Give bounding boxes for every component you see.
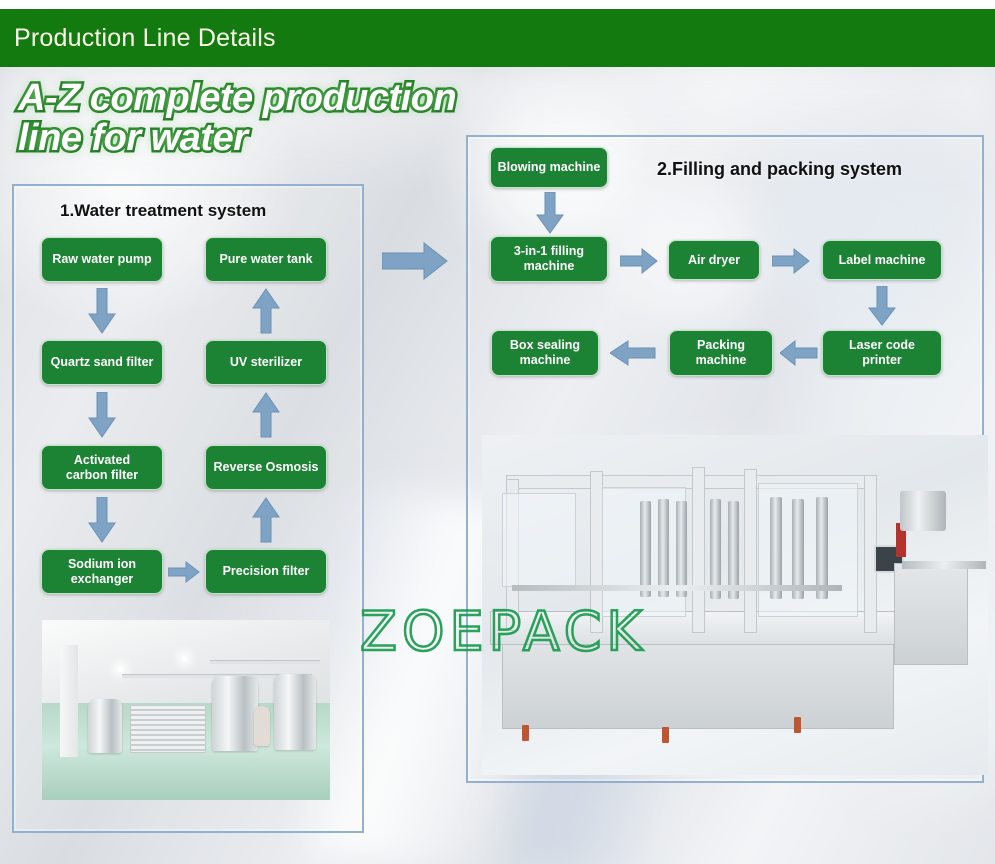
section-title-filling-packing: 2.Filling and packing system	[657, 159, 902, 180]
arrow-down-blowing-to-filling	[536, 192, 564, 234]
node-air-dryer[interactable]: Air dryer	[668, 240, 760, 280]
machine-frame-post-mid2	[692, 467, 705, 633]
arrow-up-uv-to-pure-tank	[252, 288, 280, 334]
node-blowing-machine[interactable]: Blowing machine	[490, 147, 608, 188]
arrow-up-ro-to-uv	[252, 392, 280, 438]
filling-nozzle-8	[816, 497, 828, 599]
arrow-down-raw-to-quartz	[88, 288, 116, 334]
photo-pipe-2	[210, 660, 320, 664]
node-three-in-one-filling-machine[interactable]: 3-in-1 filling machine	[490, 236, 608, 282]
node-uv-sterilizer[interactable]: UV sterilizer	[205, 340, 327, 385]
node-box-sealing-machine[interactable]: Box sealing machine	[491, 330, 599, 376]
machine-foot-2	[662, 727, 669, 743]
hero-line-1: A-Z complete production	[18, 78, 488, 118]
filling-nozzle-7	[792, 499, 804, 599]
arrow-up-precision-to-ro	[252, 497, 280, 543]
page-header: Production Line Details	[0, 9, 995, 67]
arrow-connector-system1-to-system2	[382, 241, 448, 281]
filling-nozzle-4	[710, 499, 721, 599]
photo-door	[254, 706, 270, 746]
photo-lamp-1	[118, 667, 123, 672]
machine-guard-panel-left	[502, 493, 576, 587]
photo-ro-membrane-rack	[130, 705, 206, 754]
node-precision-filter[interactable]: Precision filter	[205, 549, 327, 594]
arrow-left-packing-to-box-sealing	[610, 340, 656, 366]
filling-nozzle-3	[676, 501, 687, 597]
photo-tank-large-1	[212, 676, 258, 752]
node-sodium-ion-exchanger[interactable]: Sodium ion exchanger	[41, 549, 163, 594]
node-pure-water-tank[interactable]: Pure water tank	[205, 237, 327, 282]
production-line-details-page: Production Line Details A-Z complete pro…	[0, 0, 995, 864]
node-activated-carbon-filter[interactable]: Activated carbon filter	[41, 445, 163, 490]
page-title: Production Line Details	[0, 24, 276, 53]
photo-lamp-2	[182, 656, 187, 661]
photo-tank-large-2	[274, 674, 316, 750]
machine-outfeed-conveyor	[902, 561, 986, 569]
water-treatment-plant-photo	[42, 620, 330, 800]
machine-foot-1	[522, 725, 529, 741]
hero-line-2: line for water	[18, 118, 488, 158]
arrow-right-air-dryer-to-label	[772, 248, 810, 274]
arrow-down-quartz-to-carbon	[88, 392, 116, 438]
arrow-right-sodium-to-precision	[168, 561, 200, 583]
filling-nozzle-6	[770, 497, 782, 599]
arrow-left-laser-to-packing	[780, 340, 818, 366]
node-label-machine[interactable]: Label machine	[822, 240, 942, 280]
machine-base	[502, 631, 894, 729]
machine-guide-rail	[512, 585, 842, 591]
filling-nozzle-2	[658, 499, 669, 597]
machine-cap-hopper	[900, 491, 946, 531]
machine-side-cabinet	[894, 563, 968, 665]
section-title-water-treatment: 1.Water treatment system	[60, 201, 266, 221]
photo-pillar	[60, 645, 78, 757]
node-laser-code-printer[interactable]: Laser code printer	[822, 330, 942, 376]
photo-tank-small	[88, 699, 122, 753]
filling-nozzle-1	[640, 501, 651, 597]
machine-frame-post-mid3	[744, 469, 757, 633]
filling-machine-photo	[482, 435, 988, 775]
machine-foot-3	[794, 717, 801, 733]
node-packing-machine[interactable]: Packing machine	[669, 330, 773, 376]
hero-headline: A-Z complete production line for water	[18, 78, 488, 159]
arrow-down-carbon-to-sodium	[88, 497, 116, 543]
node-raw-water-pump[interactable]: Raw water pump	[41, 237, 163, 282]
node-quartz-sand-filter[interactable]: Quartz sand filter	[41, 340, 163, 385]
node-reverse-osmosis[interactable]: Reverse Osmosis	[205, 445, 327, 490]
arrow-down-label-to-laser	[868, 286, 896, 326]
arrow-right-filling-to-air-dryer	[620, 248, 658, 274]
